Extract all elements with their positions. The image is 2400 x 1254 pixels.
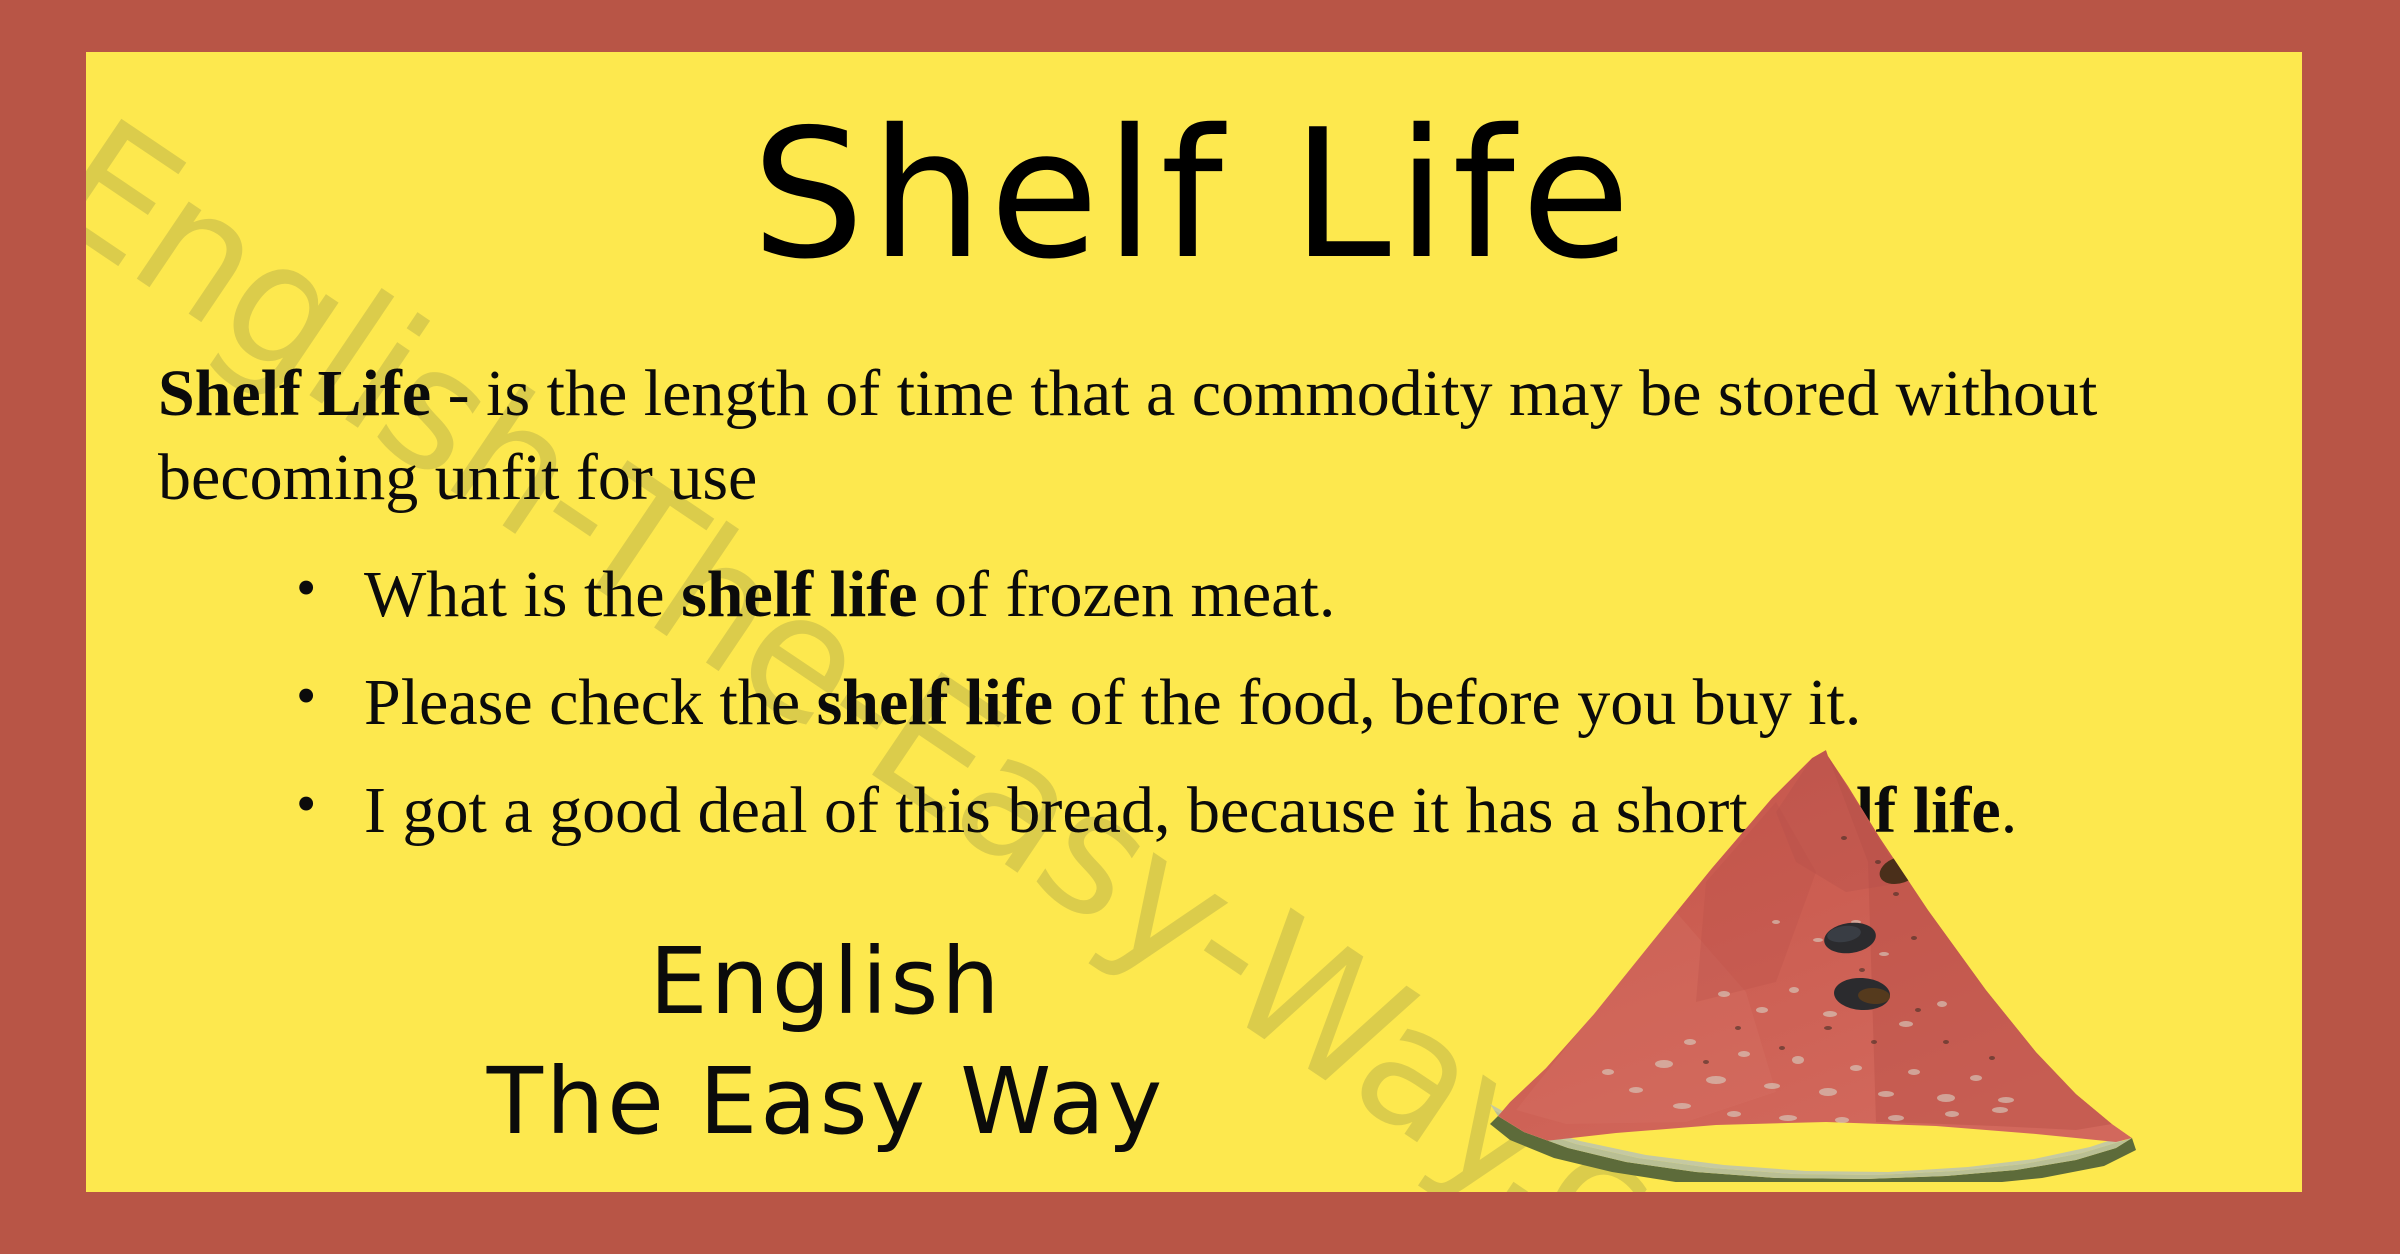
definition-paragraph: Shelf Life - is the length of time that …: [158, 352, 2218, 521]
list-item: •What is the shelf life of frozen meat.: [286, 552, 2246, 638]
brand-line-2: The Easy Way: [226, 1042, 1426, 1162]
poster-card: English-The-Easy-Way.com Shelf Life Shel…: [86, 52, 2302, 1192]
bullet-text-bold: shelf life: [817, 666, 1053, 739]
list-item: •Please check the shelf life of the food…: [286, 660, 2246, 746]
bullet-text-post: of the food, before you buy it.: [1053, 666, 1861, 739]
bullet-text-post: of frozen meat.: [918, 558, 1336, 631]
watermelon-illustration: [1476, 742, 2176, 1182]
bullet-icon: •: [296, 658, 316, 733]
brand-line-1: English: [226, 922, 1426, 1042]
poster-frame: English-The-Easy-Way.com Shelf Life Shel…: [0, 0, 2400, 1254]
bullet-text-pre: What is the: [364, 558, 681, 631]
bullet-icon: •: [296, 550, 316, 625]
melon-flesh: [1498, 750, 2132, 1142]
bullet-text-pre: Please check the: [364, 666, 817, 739]
definition-term: Shelf Life: [158, 357, 431, 430]
bullet-text-bold: shelf life: [681, 558, 917, 631]
bullet-icon: •: [296, 766, 316, 841]
definition-dash: -: [431, 357, 486, 430]
page-title: Shelf Life: [86, 104, 2302, 286]
brand-footer: English The Easy Way: [226, 922, 1426, 1161]
